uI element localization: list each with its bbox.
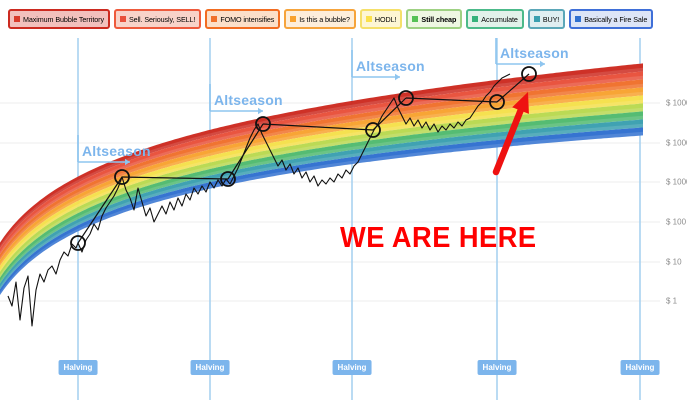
legend-item-1[interactable]: Sell. Seriously, SELL! [114,9,201,29]
legend-item-6[interactable]: Accumulate [466,9,524,29]
legend-swatch-icon [366,16,372,22]
bitcoin-rainbow-chart: Maximum Bubble TerritorySell. Seriously,… [0,0,687,400]
halving-label-0[interactable]: Halving [59,360,98,375]
legend-item-3[interactable]: Is this a bubble? [284,9,356,29]
chart-canvas [0,38,687,400]
legend-swatch-icon [211,16,217,22]
altseason-label-3: Altseason [500,45,569,61]
legend-item-label: Is this a bubble? [299,15,350,24]
altseason-label-1: Altseason [214,92,283,108]
legend-item-label: Basically a Fire Sale [584,15,647,24]
legend-item-label: Accumulate [481,15,518,24]
y-axis-tick-label-4: $ 10 [666,258,682,267]
halving-label-2[interactable]: Halving [333,360,372,375]
halving-label-4[interactable]: Halving [621,360,660,375]
legend-swatch-icon [575,16,581,22]
legend-item-5[interactable]: Still cheap [406,9,462,29]
legend-item-label: BUY! [543,15,559,24]
altseason-arrowhead-2 [395,74,400,80]
legend-swatch-icon [412,16,418,22]
legend-item-2[interactable]: FOMO intensifies [205,9,280,29]
legend-swatch-icon [472,16,478,22]
legend-swatch-icon [120,16,126,22]
y-axis-tick-label-3: $ 100 [666,218,686,227]
altseason-arrowhead-1 [258,108,263,114]
we-are-here-label: WE ARE HERE [340,222,537,255]
legend-item-label: HODL! [375,15,396,24]
legend-item-4[interactable]: HODL! [360,9,402,29]
legend-swatch-icon [534,16,540,22]
rainbow-bands [0,63,643,321]
halving-label-3[interactable]: Halving [478,360,517,375]
y-axis-tick-label-1: $ 10000 [666,139,687,148]
altseason-arrowhead-3 [540,61,545,67]
legend-item-label: FOMO intensifies [220,15,274,24]
legend-item-label: Still cheap [421,15,456,24]
y-axis-tick-label-5: $ 1 [666,297,677,306]
legend-item-0[interactable]: Maximum Bubble Territory [8,9,110,29]
plot-area: $ 100000$ 10000$ 1000$ 100$ 10$ 1 Halvin… [0,38,687,400]
legend: Maximum Bubble TerritorySell. Seriously,… [0,0,687,38]
altseason-label-0: Altseason [82,143,151,159]
y-axis-tick-label-0: $ 100000 [666,99,687,108]
legend-item-label: Sell. Seriously, SELL! [129,15,195,24]
legend-item-8[interactable]: Basically a Fire Sale [569,9,653,29]
legend-item-7[interactable]: BUY! [528,9,565,29]
legend-swatch-icon [290,16,296,22]
altseason-label-2: Altseason [356,58,425,74]
legend-swatch-icon [14,16,20,22]
y-axis-tick-label-2: $ 1000 [666,178,687,187]
halving-label-1[interactable]: Halving [191,360,230,375]
legend-item-label: Maximum Bubble Territory [23,15,104,24]
